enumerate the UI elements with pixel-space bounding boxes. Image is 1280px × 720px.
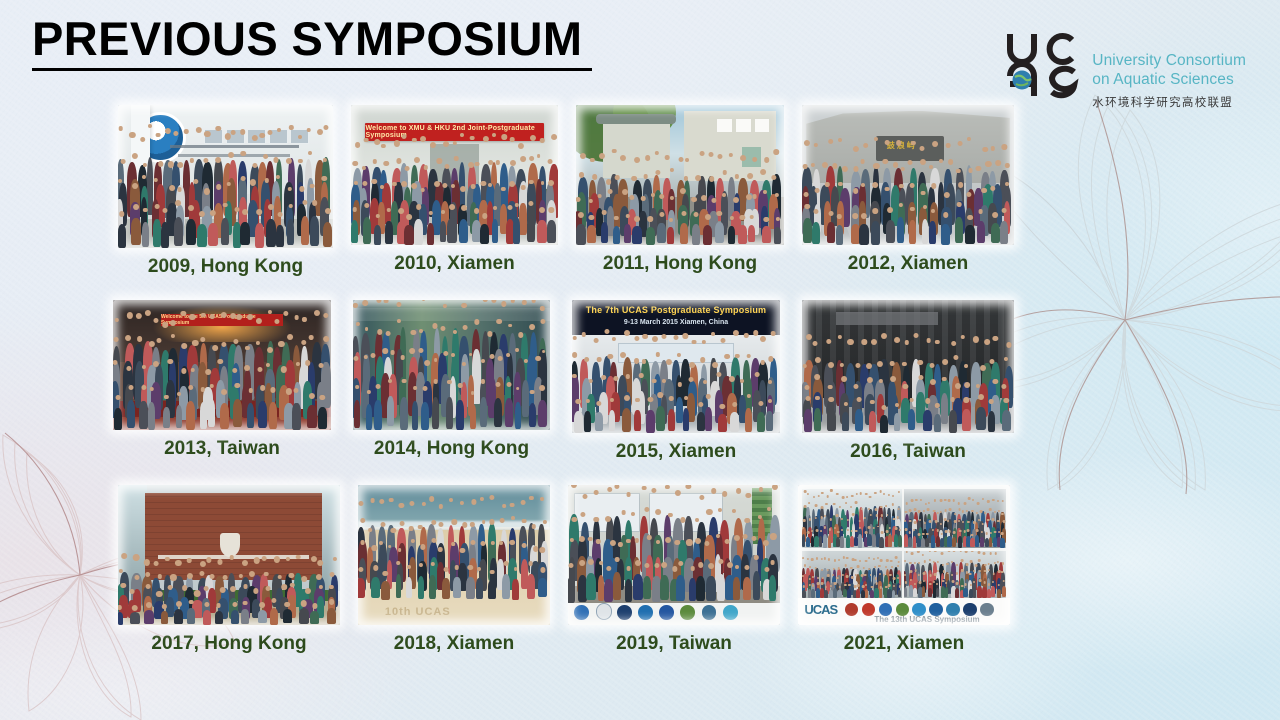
- photo-2012[interactable]: 鼓浪屿: [802, 105, 1014, 245]
- crowd-2015: [572, 364, 780, 433]
- photo-2016[interactable]: [802, 300, 1014, 433]
- photo-2010[interactable]: Welcome to XMU & HKU 2nd Joint-Postgradu…: [351, 105, 558, 245]
- photo-2018[interactable]: 10th UCAS: [358, 485, 550, 625]
- gallery-item-2017[interactable]: 2017, Hong Kong: [118, 485, 340, 655]
- ucas-logo-mark-icon: [1004, 28, 1082, 104]
- caption-2010: 2010, Xiamen: [351, 253, 558, 275]
- symposium-gallery: 2009, Hong Kong Welcome to XMU & HKU 2nd…: [0, 105, 1040, 655]
- crowd-2013: [113, 349, 331, 430]
- caption-2021: 2021, Xiamen: [798, 633, 1010, 655]
- ucas-logo: University Consortium on Aquatic Science…: [1004, 28, 1246, 110]
- gallery-row-3: 2017, Hong Kong 10th UCAS 2018, Xiamen: [0, 485, 1040, 655]
- photo-scene-2016: [802, 300, 1014, 433]
- photo-2019[interactable]: [568, 485, 780, 625]
- gallery-item-2019[interactable]: 2019, Taiwan: [568, 485, 780, 655]
- gallery-item-2014[interactable]: 2014, Hong Kong: [353, 300, 550, 460]
- gallery-item-2013[interactable]: Welcome to the 5th UCAS Postgraduate Sym…: [113, 300, 331, 460]
- crowd-2014: [353, 336, 550, 430]
- gallery-item-2010[interactable]: Welcome to XMU & HKU 2nd Joint-Postgradu…: [351, 105, 558, 275]
- caption-2015: 2015, Xiamen: [572, 441, 780, 463]
- caption-2011: 2011, Hong Kong: [576, 253, 784, 275]
- crowd-2012: [802, 172, 1014, 245]
- caption-2017: 2017, Hong Kong: [118, 633, 340, 655]
- photo-scene-2017: [118, 485, 340, 625]
- gallery-row-1: 2009, Hong Kong Welcome to XMU & HKU 2nd…: [0, 105, 1040, 278]
- photo-scene-2021: UCAS The 13th UCAS Symposium: [798, 485, 1010, 625]
- photo-2015[interactable]: The 7th UCAS Postgraduate Symposium 9-13…: [572, 300, 780, 433]
- crowd-2016: [802, 367, 1014, 434]
- photo-2013[interactable]: Welcome to the 5th UCAS Postgraduate Sym…: [113, 300, 331, 430]
- sand-text-2018: 10th UCAS: [385, 606, 451, 618]
- photo-scene-2012: 鼓浪屿: [802, 105, 1014, 245]
- strip-logo-2021: UCAS: [804, 602, 837, 617]
- strip-text-2021: The 13th UCAS Symposium: [874, 615, 979, 624]
- photo-scene-2019: [568, 485, 780, 625]
- photo-scene-2015: The 7th UCAS Postgraduate Symposium 9-13…: [572, 300, 780, 433]
- caption-2009: 2009, Hong Kong: [118, 256, 333, 278]
- banner-text-2010: Welcome to XMU & HKU 2nd Joint-Postgradu…: [365, 123, 543, 141]
- photo-scene-2011: [576, 105, 784, 245]
- crowd-2010: [351, 169, 558, 245]
- gallery-item-2018[interactable]: 10th UCAS 2018, Xiamen: [358, 485, 550, 655]
- banner-line2-2015: 9-13 March 2015 Xiamen, China: [572, 319, 780, 326]
- caption-2012: 2012, Xiamen: [802, 253, 1014, 275]
- caption-2016: 2016, Taiwan: [802, 441, 1014, 463]
- ucas-logo-chinese: 水环境科学研究高校联盟: [1092, 94, 1246, 110]
- photo-2009[interactable]: [118, 105, 333, 248]
- gallery-item-2011[interactable]: 2011, Hong Kong: [576, 105, 784, 275]
- caption-2019: 2019, Taiwan: [568, 633, 780, 655]
- crowd-2009: [118, 165, 333, 248]
- photo-2017[interactable]: [118, 485, 340, 625]
- gallery-item-2016[interactable]: 2016, Taiwan: [802, 300, 1014, 463]
- title-block: PREVIOUS SYMPOSIUM: [32, 14, 592, 71]
- photo-2014[interactable]: [353, 300, 550, 430]
- photo-scene-2018: 10th UCAS: [358, 485, 550, 625]
- photo-2011[interactable]: [576, 105, 784, 245]
- caption-2013: 2013, Taiwan: [113, 438, 331, 460]
- photo-scene-2013: Welcome to the 5th UCAS Postgraduate Sym…: [113, 300, 331, 430]
- banner-line1-2015: The 7th UCAS Postgraduate Symposium: [572, 305, 780, 315]
- crowd-2011: [576, 181, 784, 245]
- ucas-logo-text: University Consortium on Aquatic Science…: [1092, 28, 1246, 110]
- photo-2021[interactable]: UCAS The 13th UCAS Symposium: [798, 485, 1010, 625]
- crowd-2019: [568, 521, 780, 602]
- ucas-logo-line1: University Consortium: [1092, 52, 1246, 71]
- gallery-item-2009[interactable]: 2009, Hong Kong: [118, 105, 333, 278]
- page-title: PREVIOUS SYMPOSIUM: [32, 14, 592, 65]
- slide-canvas: PREVIOUS SYMPOSIUM University Consortium…: [0, 0, 1280, 720]
- gallery-item-2012[interactable]: 鼓浪屿 2012, Xiamen: [802, 105, 1014, 275]
- photo-scene-2009: [118, 105, 333, 248]
- caption-2018: 2018, Xiamen: [358, 633, 550, 655]
- caption-2014: 2014, Hong Kong: [353, 438, 550, 460]
- crowd-2018: [358, 530, 550, 600]
- title-underline: [32, 68, 592, 71]
- photo-scene-2014: [353, 300, 550, 430]
- gallery-item-2015[interactable]: The 7th UCAS Postgraduate Symposium 9-13…: [572, 300, 780, 463]
- ucas-logo-line2: on Aquatic Sciences: [1092, 71, 1246, 90]
- gallery-item-2021[interactable]: UCAS The 13th UCAS Symposium: [798, 485, 1010, 655]
- crowd-2017: [118, 577, 340, 625]
- gallery-row-2: Welcome to the 5th UCAS Postgraduate Sym…: [0, 300, 1040, 463]
- photo-scene-2010: Welcome to XMU & HKU 2nd Joint-Postgradu…: [351, 105, 558, 245]
